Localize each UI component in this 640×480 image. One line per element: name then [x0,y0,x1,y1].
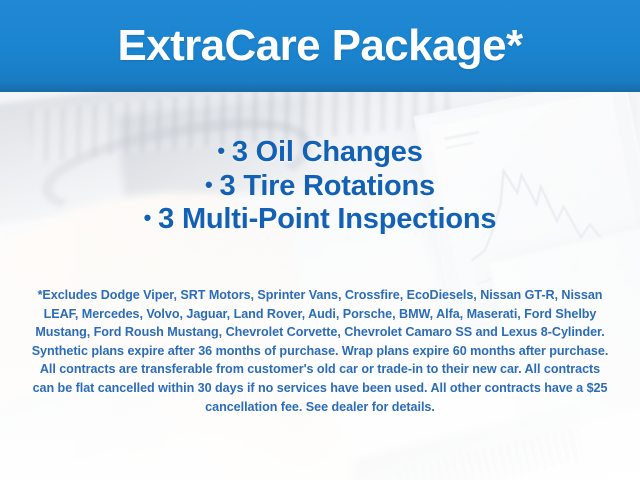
benefit-label: 3 Multi-Point Inspections [158,203,496,235]
list-item: •3 Oil Changes [0,136,640,170]
promo-content: •3 Oil Changes •3 Tire Rotations •3 Mult… [0,92,640,480]
header-banner: ExtraCare Package* [0,0,640,92]
benefits-list: •3 Oil Changes •3 Tire Rotations •3 Mult… [0,136,640,237]
bullet-icon: • [205,172,213,197]
page-title: ExtraCare Package* [117,24,522,68]
list-item: •3 Multi-Point Inspections [0,203,640,237]
benefit-label: 3 Oil Changes [232,136,423,168]
list-item: •3 Tire Rotations [0,170,640,204]
disclaimer-text: *Excludes Dodge Viper, SRT Motors, Sprin… [28,286,612,416]
bullet-icon: • [144,205,152,230]
bullet-icon: • [217,138,225,163]
extracare-package-promo-graphic: ExtraCare Package* •3 Oil Changes •3 Tir… [0,0,640,480]
benefit-label: 3 Tire Rotations [220,170,435,202]
